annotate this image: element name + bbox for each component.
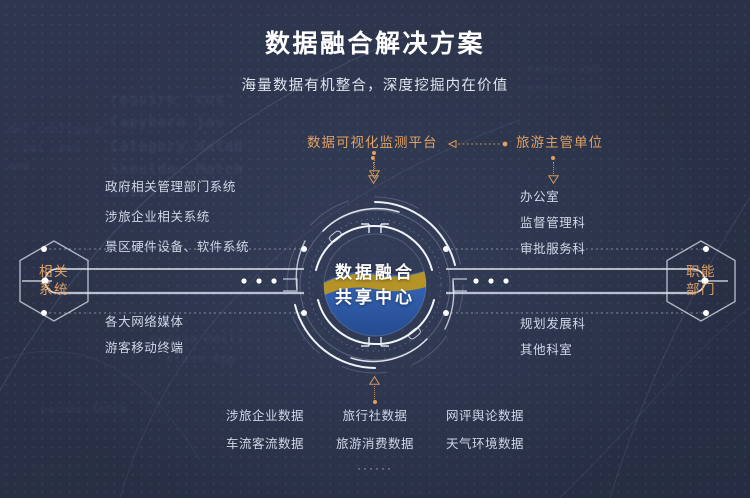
bottom-ellipsis: ······ [0,461,750,475]
dropper-dotted-line [374,157,375,169]
bottom-item-r1c3[interactable]: 网评舆论数据 [430,405,540,424]
bottom-item-r1c1[interactable]: 涉旅企业数据 [210,405,320,424]
left-lower-item-0[interactable]: 各大网络媒体 [105,311,184,330]
left-hexagon-related-systems[interactable]: 相关 系统 [16,238,92,324]
label-tourism-authority[interactable]: 旅游主管单位 [516,131,603,151]
right-lower-item-1[interactable]: 其他科室 [520,339,572,358]
dropper-dot [551,156,555,160]
bottom-item-r2c2[interactable]: 旅游消费数据 [320,433,430,452]
left-upper-item-2[interactable]: 景区硬件设备、软件系统 [105,236,249,255]
bottom-item-r2c3[interactable]: 天气环境数据 [430,433,540,452]
left-lower-item-1[interactable]: 游客移动终端 [105,337,184,356]
page-subtitle: 海量数据有机整合，深度挖掘内在价值 [0,74,750,95]
bottom-row-2: 车流客流数据 旅游消费数据 天气环境数据 [0,433,750,452]
bottom-data-sources: 涉旅企业数据 旅行社数据 网评舆论数据 车流客流数据 旅游消费数据 天气环境数据… [0,405,750,475]
right-hexagon-label: 职能 部门 [663,238,739,324]
riser-dotted-line [374,386,375,399]
right-hexagon-functional-departments[interactable]: 职能 部门 [663,238,739,324]
bottom-item-r2c1[interactable]: 车流客流数据 [210,433,320,452]
left-hexagon-label: 相关 系统 [16,238,92,324]
left-upper-item-0[interactable]: 政府相关管理部门系统 [105,176,236,195]
right-upper-item-0[interactable]: 办公室 [520,186,559,205]
triangle-down-icon [548,175,559,184]
dropper-top-center [369,151,379,179]
left-upper-item-1[interactable]: 涉旅企业相关系统 [105,206,210,225]
riser-bottom-center [369,376,380,404]
top-label-row: 数据可视化监测平台 旅游主管单位 [0,131,750,153]
bottom-row-1: 涉旅企业数据 旅行社数据 网评舆论数据 [0,405,750,424]
center-rings-and-globe [283,193,467,377]
center-hub: 数据融合 共享中心 [283,193,467,377]
right-hex-line2: 部门 [686,281,716,299]
left-hex-line2: 系统 [39,281,69,299]
dropper-dotted-line [553,162,554,174]
infographic-canvas: require 'cos' Capybara.jav Category.data… [0,0,750,498]
page-title: 数据融合解决方案 [0,24,750,60]
dropper-dot [372,151,376,155]
left-hex-line1: 相关 [39,263,69,281]
label-visualization-platform[interactable]: 数据可视化监测平台 [307,131,438,151]
bottom-item-r1c2[interactable]: 旅行社数据 [320,405,430,424]
dropper-authority [548,156,558,184]
triangle-up-icon [369,376,380,385]
dotted-arrow-left-icon [447,140,509,148]
triangle-down-icon [369,170,380,179]
riser-dot [373,400,377,404]
right-lower-item-0[interactable]: 规划发展科 [520,313,586,332]
header: 数据融合解决方案 海量数据有机整合，深度挖掘内在价值 [0,0,750,95]
right-upper-item-2[interactable]: 审批服务科 [520,238,586,257]
right-upper-item-1[interactable]: 监督管理科 [520,212,586,231]
right-hex-line1: 职能 [686,263,716,281]
